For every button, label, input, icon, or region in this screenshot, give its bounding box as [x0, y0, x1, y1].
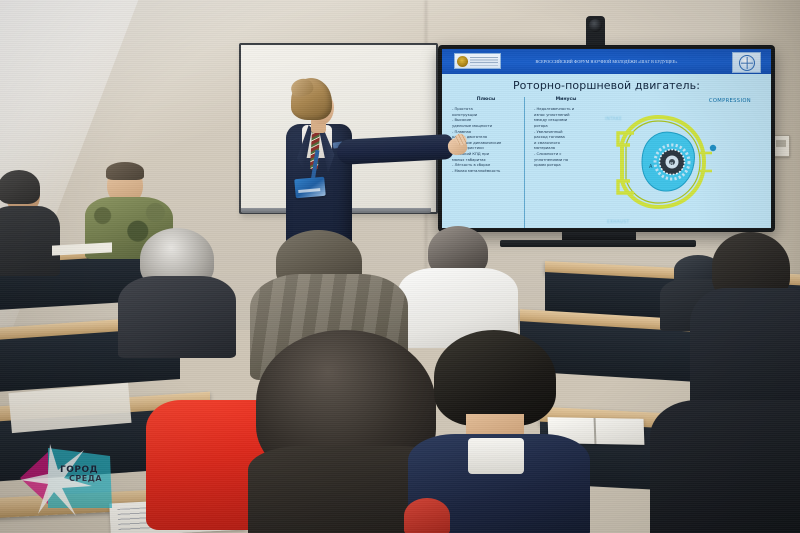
attendee-far-right	[700, 232, 800, 412]
list-item: - Сложности с	[534, 152, 600, 157]
svg-text:B: B	[670, 162, 674, 168]
wankel-rotary-engine-diagram: COMPRESSION INTAKE EXHAUST	[600, 97, 765, 228]
crest-emblem-icon	[457, 56, 468, 67]
presentation-slide: ВСЕРОССИЙСКИЙ ФОРУМ НАУЧНОЙ МОЛОДЁЖИ «ША…	[442, 49, 771, 228]
display-screen[interactable]: ВСЕРОССИЙСКИЙ ФОРУМ НАУЧНОЙ МОЛОДЁЖИ «ША…	[438, 45, 775, 232]
hair	[434, 330, 556, 426]
list-item: между секциями	[534, 118, 600, 123]
torso	[0, 206, 60, 276]
forum-crest-logo	[454, 53, 501, 69]
attendee-white-shirt	[398, 226, 518, 346]
engine-schematic-svg: A B	[600, 105, 718, 223]
list-item: и смазочного	[534, 141, 600, 146]
slide-title: Роторно-поршневой двигатель:	[442, 79, 771, 92]
column-heading-minuses: Минусы	[532, 97, 600, 102]
presenter-pointing-arm	[336, 134, 453, 165]
logo-text-lines	[470, 57, 498, 66]
organization-globe-logo	[732, 52, 761, 73]
hair	[106, 162, 144, 180]
screenshot-root: ВСЕРОССИЙСКИЙ ФОРУМ НАУЧНОЙ МОЛОДЁЖИ «ША…	[0, 0, 800, 533]
attendee-grey-hair	[118, 228, 236, 353]
list-item: - Увеличенный	[534, 130, 600, 135]
list-item: краям ротора	[534, 163, 600, 168]
screen-stand-base	[500, 240, 696, 247]
red-bag-strap	[404, 498, 450, 533]
slide-header-text: ВСЕРОССИЙСКИЙ ФОРУМ НАУЧНОЙ МОЛОДЁЖИ «ША…	[536, 59, 678, 64]
torso	[118, 276, 236, 358]
watermark-line-2: СРЕДА	[60, 475, 102, 484]
publisher-watermark: ГОРОД СРЕДА	[14, 438, 122, 526]
list-item: - Недолговечность и	[534, 107, 600, 112]
list-item: износ уплотнений	[534, 113, 600, 118]
slide-header-bar: ВСЕРОССИЙСКИЙ ФОРУМ НАУЧНОЙ МОЛОДЁЖИ «ША…	[442, 49, 771, 74]
conference-badge	[294, 177, 326, 199]
attendee-bottom-right-edge	[650, 400, 800, 533]
svg-text:A: A	[649, 164, 653, 170]
minuses-list: - Недолговечность и износ уплотнений меж…	[532, 107, 600, 169]
list-item: уплотнениями по	[534, 158, 600, 163]
slide-column-minuses: Минусы - Недолговечность и износ уплотне…	[524, 97, 600, 228]
globe-icon	[739, 55, 755, 71]
hair	[0, 170, 40, 204]
torso	[650, 400, 800, 533]
slide-body: Плюсы - Простота конструкции - Высокие у…	[442, 97, 771, 228]
shirt-collar	[468, 438, 524, 474]
diagram-phase-label: COMPRESSION	[709, 98, 751, 104]
list-item: ротора	[534, 124, 600, 129]
watermark-text: ГОРОД СРЕДА	[60, 465, 102, 484]
attendee-left-dark-hair	[0, 172, 66, 272]
list-item: расход топлива	[534, 135, 600, 140]
list-item: материала	[534, 146, 600, 151]
torso	[690, 288, 800, 414]
